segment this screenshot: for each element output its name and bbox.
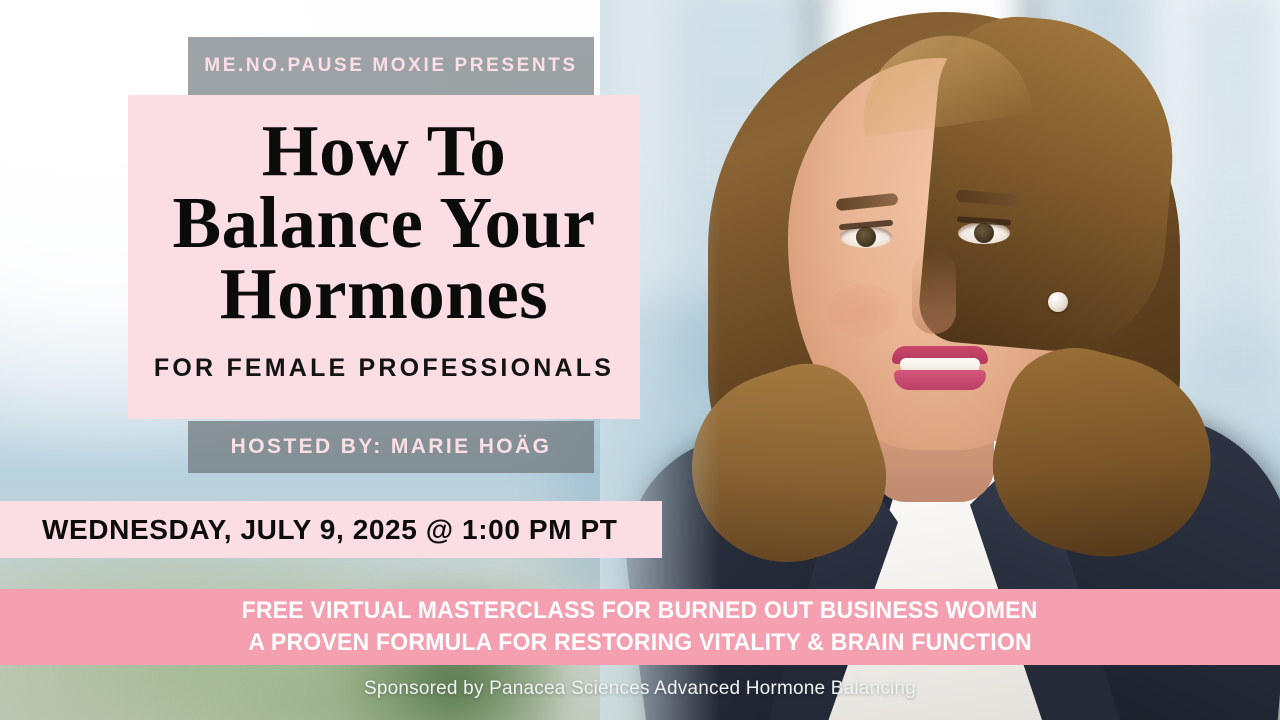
sponsor-text: Sponsored by Panacea Sciences Advanced H… xyxy=(0,678,1280,700)
iris-right xyxy=(974,223,994,243)
promo-line-2: A PROVEN FORMULA FOR RESTORING VITALITY … xyxy=(248,629,1031,657)
title-line-2: Balance Your xyxy=(172,187,595,259)
presenter-banner: ME.NO.PAUSE MOXIE PRESENTS xyxy=(188,37,594,95)
nose xyxy=(912,250,956,334)
date-time-text: WEDNESDAY, JULY 9, 2025 @ 1:00 PM PT xyxy=(42,514,617,546)
title-line-1: How To xyxy=(262,115,506,187)
pearl-earring xyxy=(1048,292,1068,312)
webinar-promo-poster: ME.NO.PAUSE MOXIE PRESENTS How To Balanc… xyxy=(0,0,1280,720)
date-time-bar: WEDNESDAY, JULY 9, 2025 @ 1:00 PM PT xyxy=(0,501,662,558)
promo-band: FREE VIRTUAL MASTERCLASS FOR BURNED OUT … xyxy=(0,589,1280,665)
promo-line-1: FREE VIRTUAL MASTERCLASS FOR BURNED OUT … xyxy=(242,597,1038,625)
iris-left xyxy=(856,227,876,247)
title-panel: How To Balance Your Hormones FOR FEMALE … xyxy=(128,95,640,419)
title-line-3: Hormones xyxy=(220,258,548,330)
lower-lip xyxy=(894,370,986,390)
presenter-banner-text: ME.NO.PAUSE MOXIE PRESENTS xyxy=(204,55,577,77)
host-banner-text: HOSTED BY: MARIE HOÄG xyxy=(231,435,552,459)
subtitle: FOR FEMALE PROFESSIONALS xyxy=(154,354,614,383)
host-banner: HOSTED BY: MARIE HOÄG xyxy=(188,421,594,473)
